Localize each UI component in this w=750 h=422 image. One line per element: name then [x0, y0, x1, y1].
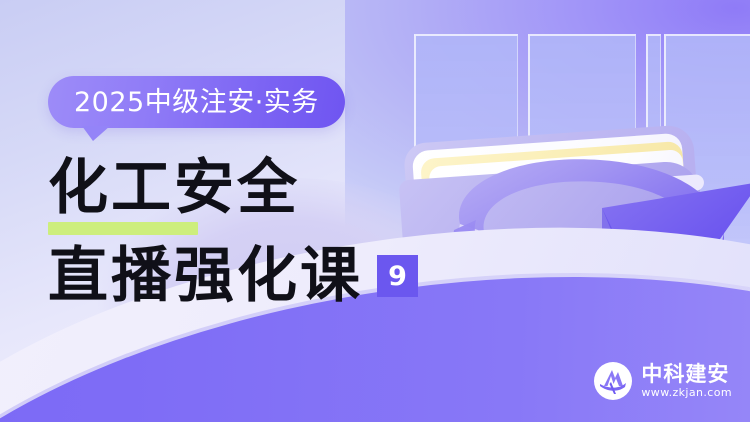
- headline-block: 化工安全 直播强化课 9: [48, 152, 478, 316]
- headline-line-1: 化工安全: [48, 152, 478, 224]
- brand-url: www.zkjan.com: [641, 387, 732, 398]
- course-badge: 2025中级注安·实务: [48, 76, 345, 128]
- course-badge-label: 2025中级注安·实务: [74, 89, 319, 116]
- brand-name: 中科建安: [641, 364, 732, 385]
- episode-number-badge: 9: [377, 255, 418, 297]
- headline-row-2: 直播强化课 9: [48, 236, 478, 316]
- course-promo-banner: 2025中级注安·实务 化工安全 直播强化课 9 中科建安 www.zkjan.…: [0, 0, 750, 422]
- brand-logo: 中科建安 www.zkjan.com: [594, 362, 732, 400]
- headline-line-2: 直播强化课: [48, 240, 363, 312]
- brand-logo-text: 中科建安 www.zkjan.com: [641, 364, 732, 398]
- course-badge-tail: [82, 126, 110, 141]
- course-badge-pill: 2025中级注安·实务: [48, 76, 345, 128]
- headline-row-1: 化工安全: [48, 152, 478, 230]
- zkjan-circle-logo-icon: [594, 362, 632, 400]
